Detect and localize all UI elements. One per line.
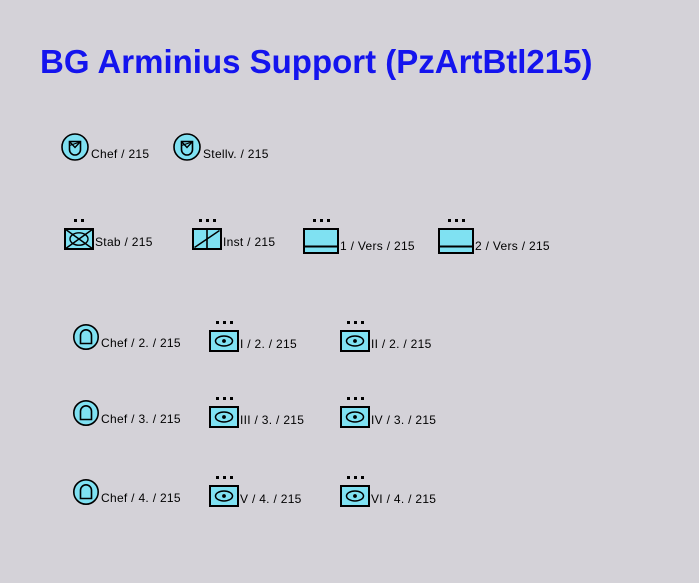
page-title: BG Arminius Support (PzArtBtl215) bbox=[40, 43, 592, 81]
echelon-dot bbox=[216, 476, 219, 479]
echelon-dot bbox=[216, 321, 219, 324]
unit-node[interactable]: Chef / 2. / 215 bbox=[72, 323, 181, 351]
unit-node[interactable]: Stab / 215 bbox=[64, 228, 153, 250]
unit-node[interactable]: Inst / 215 bbox=[192, 228, 275, 250]
echelon-dot bbox=[223, 397, 226, 400]
unit-label: II / 2. / 215 bbox=[370, 338, 432, 352]
echelon-dots bbox=[303, 219, 339, 222]
echelon-dot bbox=[213, 219, 216, 222]
echelon-dot bbox=[74, 219, 77, 222]
echelon-dots bbox=[438, 219, 474, 222]
unit-label: VI / 4. / 215 bbox=[370, 493, 436, 507]
unit-node[interactable]: V / 4. / 215 bbox=[209, 485, 302, 507]
unit-node[interactable]: I / 2. / 215 bbox=[209, 330, 297, 352]
unit-label: 1 / Vers / 215 bbox=[339, 240, 415, 254]
commander-circle-icon bbox=[172, 132, 202, 162]
echelon-dot bbox=[347, 397, 350, 400]
echelon-dots bbox=[209, 321, 239, 324]
unit-node[interactable]: 2 / Vers / 215 bbox=[438, 228, 550, 254]
artillery-battery-icon bbox=[209, 406, 239, 428]
echelon-dot bbox=[361, 397, 364, 400]
echelon-dot bbox=[206, 219, 209, 222]
echelon-dots bbox=[340, 476, 370, 479]
echelon-dot bbox=[81, 219, 84, 222]
unit-label: Chef / 2. / 215 bbox=[100, 337, 181, 351]
unit-label: Chef / 3. / 215 bbox=[100, 413, 181, 427]
echelon-dots bbox=[64, 219, 94, 222]
echelon-dots bbox=[209, 397, 239, 400]
unit-label: Inst / 215 bbox=[222, 236, 275, 250]
echelon-dot bbox=[199, 219, 202, 222]
unit-label: 2 / Vers / 215 bbox=[474, 240, 550, 254]
artillery-battery-icon bbox=[340, 406, 370, 428]
maintenance-diagonal-icon bbox=[192, 228, 222, 250]
unit-node[interactable]: 1 / Vers / 215 bbox=[303, 228, 415, 254]
artillery-battery-icon bbox=[340, 485, 370, 507]
echelon-dot bbox=[347, 476, 350, 479]
echelon-dot bbox=[354, 397, 357, 400]
unit-label: Stab / 215 bbox=[94, 236, 153, 250]
unit-node[interactable]: Chef / 4. / 215 bbox=[72, 478, 181, 506]
org-chart-canvas: BG Arminius Support (PzArtBtl215) Chef /… bbox=[0, 0, 699, 583]
echelon-dot bbox=[327, 219, 330, 222]
unit-label: IV / 3. / 215 bbox=[370, 414, 436, 428]
echelon-dot bbox=[347, 321, 350, 324]
echelon-dot bbox=[313, 219, 316, 222]
unit-label: Stellv. / 215 bbox=[202, 148, 269, 162]
echelon-dot bbox=[462, 219, 465, 222]
echelon-dot bbox=[223, 321, 226, 324]
unit-node[interactable]: Stellv. / 215 bbox=[172, 132, 269, 162]
unit-label: I / 2. / 215 bbox=[239, 338, 297, 352]
unit-node[interactable]: VI / 4. / 215 bbox=[340, 485, 436, 507]
echelon-dot bbox=[448, 219, 451, 222]
echelon-dot bbox=[361, 476, 364, 479]
unit-label: III / 3. / 215 bbox=[239, 414, 304, 428]
echelon-dot bbox=[230, 397, 233, 400]
echelon-dot bbox=[354, 321, 357, 324]
unit-label: Chef / 4. / 215 bbox=[100, 492, 181, 506]
echelon-dots bbox=[209, 476, 239, 479]
unit-node[interactable]: IV / 3. / 215 bbox=[340, 406, 436, 428]
artillery-battery-icon bbox=[209, 485, 239, 507]
echelon-dot bbox=[223, 476, 226, 479]
unit-node[interactable]: Chef / 215 bbox=[60, 132, 149, 162]
echelon-dot bbox=[320, 219, 323, 222]
unit-label: V / 4. / 215 bbox=[239, 493, 302, 507]
unit-label: Chef / 215 bbox=[90, 148, 149, 162]
supply-bar-icon bbox=[303, 228, 339, 254]
echelon-dot bbox=[230, 321, 233, 324]
artillery-battery-icon bbox=[340, 330, 370, 352]
echelon-dots bbox=[340, 397, 370, 400]
commander-circle-icon bbox=[60, 132, 90, 162]
artillery-chief-circle-icon bbox=[72, 399, 100, 427]
echelon-dots bbox=[340, 321, 370, 324]
supply-bar-icon bbox=[438, 228, 474, 254]
echelon-dot bbox=[354, 476, 357, 479]
unit-node[interactable]: III / 3. / 215 bbox=[209, 406, 304, 428]
unit-node[interactable]: Chef / 3. / 215 bbox=[72, 399, 181, 427]
echelon-dot bbox=[361, 321, 364, 324]
echelon-dot bbox=[216, 397, 219, 400]
echelon-dot bbox=[455, 219, 458, 222]
staff-envelope-icon bbox=[64, 228, 94, 250]
echelon-dot bbox=[230, 476, 233, 479]
artillery-battery-icon bbox=[209, 330, 239, 352]
unit-node[interactable]: II / 2. / 215 bbox=[340, 330, 432, 352]
artillery-chief-circle-icon bbox=[72, 478, 100, 506]
echelon-dots bbox=[192, 219, 222, 222]
artillery-chief-circle-icon bbox=[72, 323, 100, 351]
